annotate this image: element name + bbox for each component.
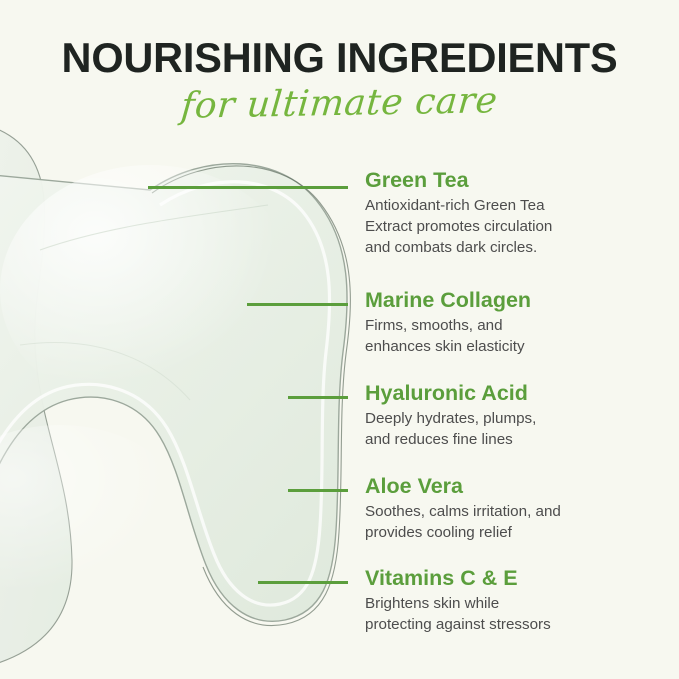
ingredients-infographic: NOURISHING INGREDIENTS for ultimate care…	[0, 0, 679, 679]
ingredient-item: Vitamins C & EBrightens skin while prote…	[365, 566, 665, 636]
ingredient-name: Vitamins C & E	[365, 566, 665, 591]
ingredient-item: Hyaluronic AcidDeeply hydrates, plumps, …	[365, 381, 665, 451]
connector-line	[247, 303, 348, 306]
ingredient-list: Green TeaAntioxidant-rich Green Tea Extr…	[0, 0, 679, 679]
ingredient-item: Marine CollagenFirms, smooths, and enhan…	[365, 288, 665, 358]
connector-line	[288, 396, 348, 399]
ingredient-name: Green Tea	[365, 168, 665, 193]
ingredient-description: Deeply hydrates, plumps, and reduces fin…	[365, 406, 665, 451]
ingredient-name: Marine Collagen	[365, 288, 665, 313]
ingredient-item: Aloe VeraSoothes, calms irritation, and …	[365, 474, 665, 544]
connector-line	[148, 186, 348, 189]
ingredient-description: Soothes, calms irritation, and provides …	[365, 499, 665, 544]
connector-line	[258, 581, 348, 584]
connector-line	[288, 489, 348, 492]
ingredient-description: Firms, smooths, and enhances skin elasti…	[365, 313, 665, 358]
ingredient-name: Hyaluronic Acid	[365, 381, 665, 406]
ingredient-name: Aloe Vera	[365, 474, 665, 499]
ingredient-description: Brightens skin while protecting against …	[365, 591, 665, 636]
ingredient-item: Green TeaAntioxidant-rich Green Tea Extr…	[365, 168, 665, 259]
ingredient-description: Antioxidant-rich Green Tea Extract promo…	[365, 193, 665, 259]
